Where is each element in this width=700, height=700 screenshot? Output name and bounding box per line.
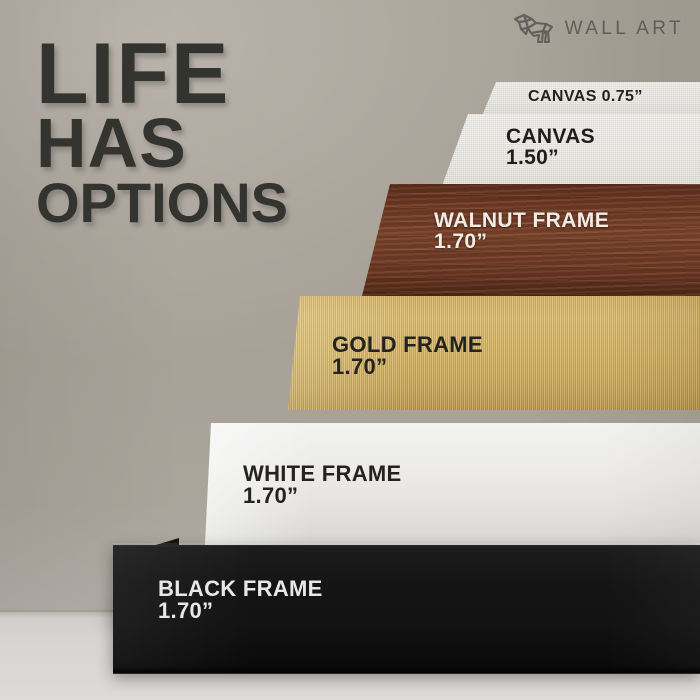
- black-frame-top-highlight: [113, 543, 700, 547]
- option-panel-white-frame[interactable]: WHITE FRAME 1.70”: [205, 423, 700, 545]
- option-name: BLACK FRAME: [158, 578, 323, 600]
- option-panel-canvas-150[interactable]: CANVAS 1.50”: [436, 114, 700, 186]
- option-depth: 1.50”: [506, 147, 595, 168]
- headline-line-3: OPTIONS: [36, 179, 396, 226]
- brand-name: WALL ART: [565, 18, 684, 40]
- option-panel-gold-frame[interactable]: GOLD FRAME 1.70”: [288, 296, 700, 410]
- option-name: CANVAS 0.75”: [528, 89, 643, 105]
- option-name: WALNUT FRAME: [434, 210, 609, 231]
- option-panel-canvas-075[interactable]: CANVAS 0.75”: [466, 82, 700, 116]
- option-label-black-frame: BLACK FRAME 1.70”: [158, 578, 323, 623]
- headline: LIFE HAS OPTIONS: [36, 38, 396, 226]
- option-label-walnut-frame: WALNUT FRAME 1.70”: [434, 210, 609, 253]
- option-panel-walnut-frame[interactable]: WALNUT FRAME 1.70”: [362, 184, 700, 296]
- option-name: CANVAS: [506, 126, 595, 147]
- option-depth: 1.70”: [243, 485, 402, 507]
- option-depth: 1.70”: [158, 600, 323, 622]
- headline-line-1: LIFE: [36, 38, 396, 110]
- option-depth: 1.70”: [434, 231, 609, 252]
- option-name: WHITE FRAME: [243, 463, 402, 485]
- option-panel-black-frame[interactable]: BLACK FRAME 1.70”: [113, 545, 700, 673]
- product-options-infographic: LIFE HAS OPTIONS WALL ART CANVAS 0.75” C…: [0, 0, 700, 700]
- headline-line-2: HAS: [36, 114, 396, 173]
- goat-origami-icon: [512, 12, 556, 46]
- brand-lockup: WALL ART: [512, 12, 684, 46]
- option-label-white-frame: WHITE FRAME 1.70”: [243, 463, 402, 508]
- option-label-canvas-075: CANVAS 0.75”: [528, 89, 643, 105]
- option-label-gold-frame: GOLD FRAME 1.70”: [332, 334, 483, 379]
- black-frame-bottom-edge: [113, 666, 700, 674]
- option-name: GOLD FRAME: [332, 334, 483, 356]
- option-label-canvas-150: CANVAS 1.50”: [506, 126, 595, 169]
- option-depth: 1.70”: [332, 356, 483, 378]
